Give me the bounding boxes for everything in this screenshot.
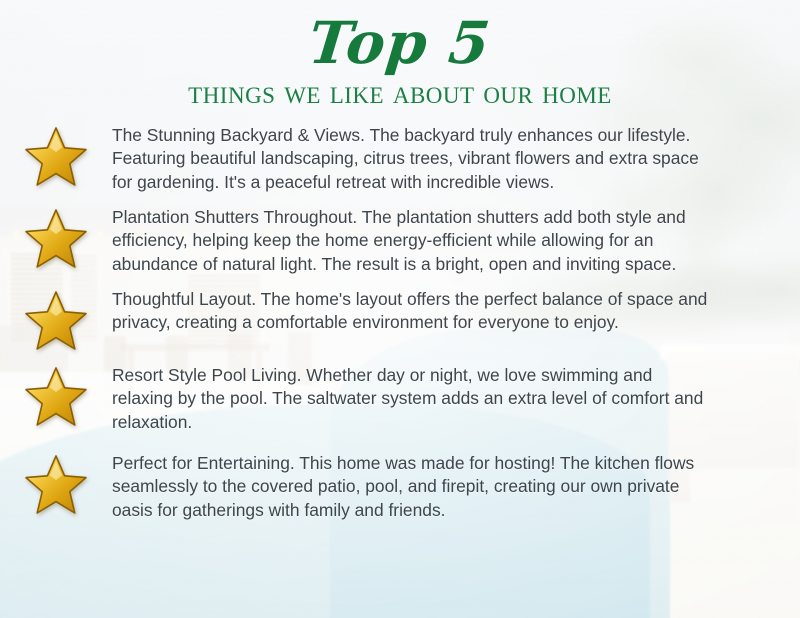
gold-star-icon xyxy=(24,290,88,352)
star-bullet-1 xyxy=(0,124,112,188)
star-bullet-3 xyxy=(0,288,112,352)
star-bullet-5 xyxy=(0,452,112,516)
list-item: The Stunning Backyard & Views. The backy… xyxy=(0,124,800,194)
gold-star-icon xyxy=(24,366,88,428)
list-item: Thoughtful Layout. The home's layout off… xyxy=(0,288,800,352)
page-title-script: Top 5 xyxy=(306,16,493,71)
title-block: Top 5 Things We Like About Our Home xyxy=(0,0,800,112)
gold-star-icon xyxy=(24,126,88,188)
list-item-text: Resort Style Pool Living. Whether day or… xyxy=(112,364,738,434)
star-bullet-4 xyxy=(0,364,112,428)
top-5-home-features-poster: Top 5 Things We Like About Our Home xyxy=(0,0,800,618)
page-subtitle: Things We Like About Our Home xyxy=(0,75,800,112)
list-item-text: The Stunning Backyard & Views. The backy… xyxy=(112,124,738,194)
list-item-text: Plantation Shutters Throughout. The plan… xyxy=(112,206,738,276)
features-list: The Stunning Backyard & Views. The backy… xyxy=(0,124,800,522)
list-item: Perfect for Entertaining. This home was … xyxy=(0,452,800,522)
gold-star-icon xyxy=(24,208,88,270)
list-item-text: Thoughtful Layout. The home's layout off… xyxy=(112,288,738,335)
list-item-text: Perfect for Entertaining. This home was … xyxy=(112,452,738,522)
gold-star-icon xyxy=(24,454,88,516)
list-item: Resort Style Pool Living. Whether day or… xyxy=(0,364,800,434)
poster-content: Top 5 Things We Like About Our Home xyxy=(0,0,800,618)
list-item: Plantation Shutters Throughout. The plan… xyxy=(0,206,800,276)
star-bullet-2 xyxy=(0,206,112,270)
